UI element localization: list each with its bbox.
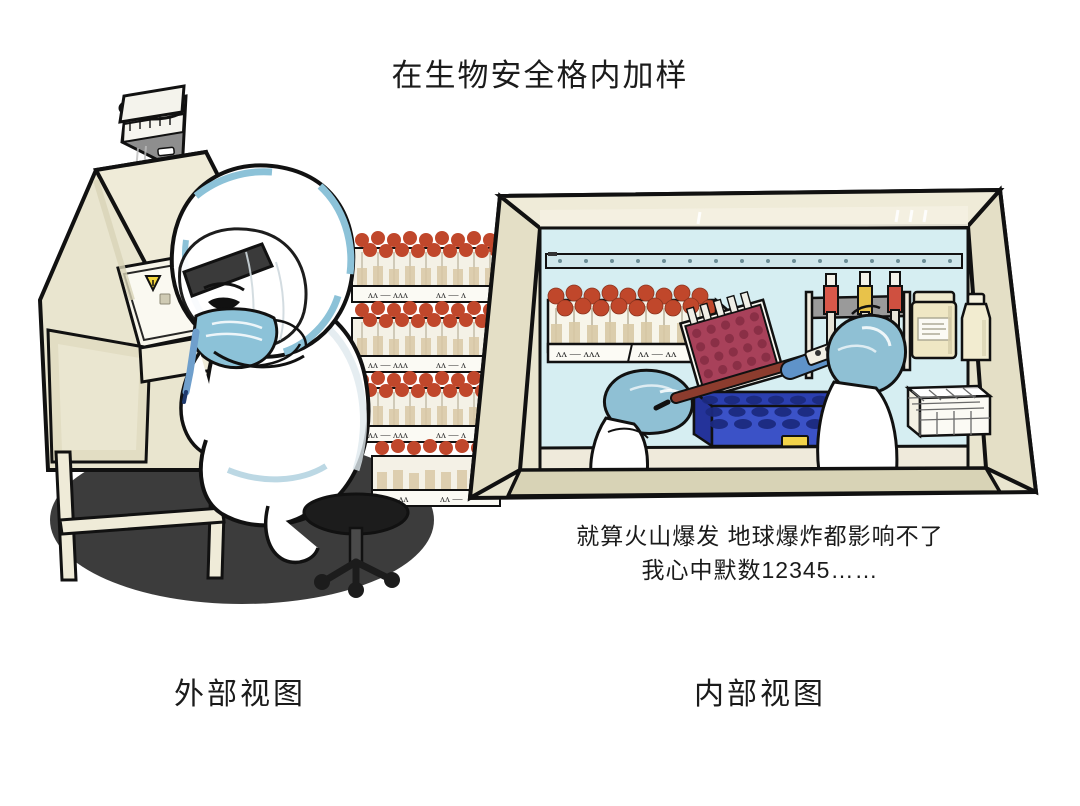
svg-text:ʌʌ — ʌ: ʌʌ — ʌ bbox=[436, 360, 466, 371]
svg-text:ʌʌ — ʌ: ʌʌ — ʌ bbox=[436, 290, 466, 301]
left-scene-external-view: ʌʌ — ʌʌʌ ʌʌ — ʌ bbox=[40, 86, 503, 604]
right-scene-internal-view: ʌʌ — ʌʌʌ ʌʌ — ʌʌ bbox=[470, 190, 1036, 498]
illustration-page: 在生物安全格内加样 bbox=[0, 0, 1080, 806]
panel-label-internal: 内部视图 bbox=[580, 669, 940, 713]
rack-label-left: ʌʌ — ʌʌʌ bbox=[556, 348, 601, 360]
tip-box-grid bbox=[908, 386, 990, 436]
reagent-jar bbox=[912, 292, 956, 358]
svg-text:ʌʌ — ʌʌʌ: ʌʌ — ʌʌʌ bbox=[368, 360, 408, 371]
panel-label-external: 外部视图 bbox=[60, 669, 420, 713]
rack-label-right: ʌʌ — ʌʌ bbox=[638, 348, 677, 360]
svg-text:ʌʌ — ʌʌʌ: ʌʌ — ʌʌʌ bbox=[368, 290, 408, 301]
svg-text:ʌʌ — ʌʌʌ: ʌʌ — ʌʌʌ bbox=[368, 430, 408, 441]
caption-text: 就算火山爆发 地球爆炸都影响不了 我心中默数12345…… bbox=[490, 519, 1030, 587]
caption-line-2: 我心中默数12345…… bbox=[642, 557, 879, 583]
svg-text:ʌʌ —: ʌʌ — bbox=[440, 494, 464, 505]
caption-line-1: 就算火山爆发 地球爆炸都影响不了 bbox=[576, 523, 943, 549]
surgical-mask bbox=[193, 309, 277, 368]
reagent-bottle bbox=[962, 294, 990, 360]
